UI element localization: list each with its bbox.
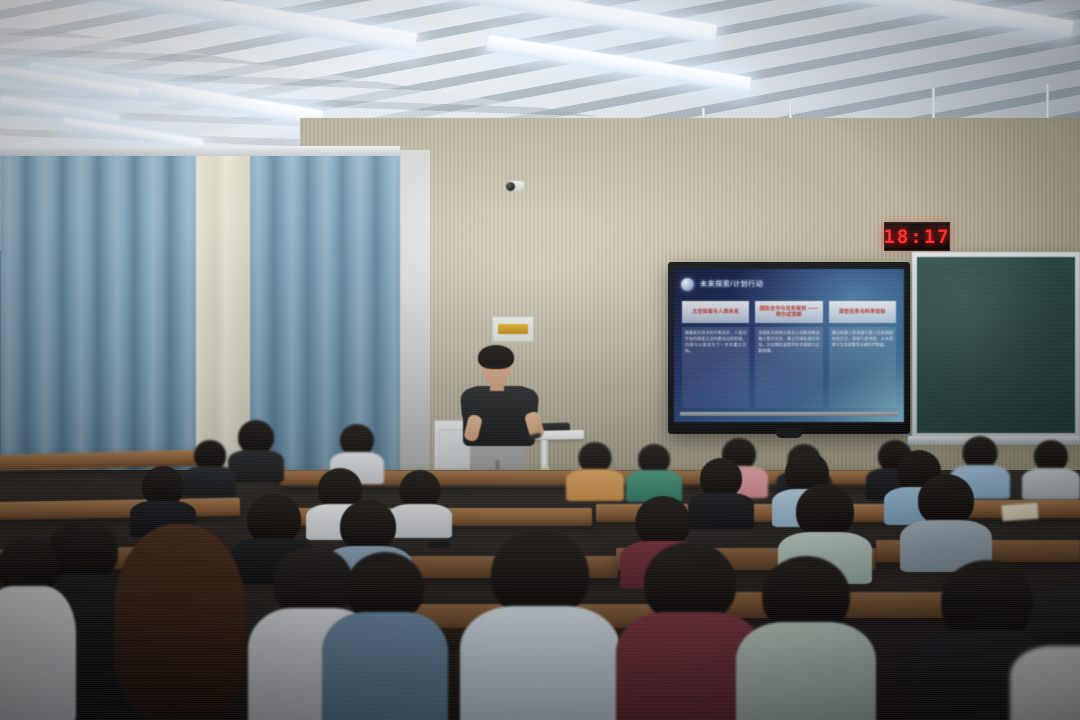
student-body [1010,646,1080,720]
security-camera-icon [506,182,515,191]
student-head [918,474,974,526]
student-near-5 [900,474,992,570]
student-front-left-2 [0,538,76,720]
slide-card-heading: 太空探索与人类未来 [692,309,739,315]
student-front-longhair [112,524,248,720]
student-far-1 [228,420,284,478]
student-body [566,469,624,501]
lecture-hall-photo: 18:17 未来探索/计划行动 太空探索与人类未来 随着航天技术的不断进步，人类… [0,0,1080,720]
digital-wall-clock: 18:17 [884,222,950,251]
chalkboard-surface [917,257,1075,433]
slide-card-body: 通过机器人探测器与载人任务相结合的方式，获取行星地质、水冰资源与生命迹象等关键科… [832,330,893,348]
student-head [491,530,589,618]
slide-card: 国际合作与任务规划 —— 阿尔忒弥斯 多国航天机构与商业公司联合推进载人登月任务… [755,301,822,408]
student-hair-long [114,524,246,716]
display-bezel-strip [680,412,898,416]
slide-card: 深空任务与科学目标 通过机器人探测器与载人任务相结合的方式，获取行星地质、水冰资… [829,301,896,408]
slide-card: 太空探索与人类未来 随着航天技术的不断进步，人类对宇宙的探索正迈向更深远的阶段，… [682,301,749,408]
slide-card-heading-box: 太空探索与人类未来 [682,301,749,323]
slide-card-heading: 国际合作与任务规划 —— 阿尔忒弥斯 [757,306,820,319]
slide-card-body-box: 多国航天机构与商业公司联合推进载人登月任务，建立月球轨道空间站，为长期驻留提供技… [755,327,822,408]
slide-card-body-box: 通过机器人探测器与载人任务相结合的方式，获取行星地质、水冰资源与生命迹象等关键科… [829,327,896,408]
eyeglasses-icon [483,366,509,372]
student-body [1022,468,1080,500]
student-far-4 [626,444,682,498]
control-panel-indicator-icon [498,324,528,334]
slide-card-body: 多国航天机构与商业公司联合推进载人登月任务，建立月球轨道空间站，为长期驻留提供技… [758,330,819,354]
slide-card-heading-box: 深空任务与科学目标 [829,301,896,323]
slide-card-heading: 深空任务与科学目标 [839,309,886,315]
student-head [340,500,396,552]
student-head [796,484,854,538]
student-front-right-2 [736,556,876,720]
slide-card-body: 随着航天技术的不断进步，人类对宇宙的探索正迈向更深远的阶段，月球与火星成为下一步… [685,330,746,354]
interactive-flat-panel-display[interactable]: 未来探索/计划行动 太空探索与人类未来 随着航天技术的不断进步，人类对宇宙的探索… [668,262,910,434]
nasa-logo-icon [681,278,694,291]
display-screen[interactable]: 未来探索/计划行动 太空探索与人类未来 随着航天技术的不断进步，人类对宇宙的探索… [674,269,904,422]
green-chalkboard [912,252,1080,438]
student-front-mid-2 [322,552,448,720]
student-body [322,612,448,720]
student-front-center [460,530,620,720]
student-body [0,586,76,720]
slide-card-group: 太空探索与人类未来 随着航天技术的不断进步，人类对宇宙的探索正迈向更深远的阶段，… [682,301,896,408]
slide-title: 未来探索/计划行动 [700,279,763,289]
student-front-right-4 [1010,586,1080,720]
student-head [142,466,184,506]
student-far-3 [566,442,624,498]
student-mid-1 [130,466,196,532]
student-far-9 [1022,440,1080,498]
student-head [238,420,274,454]
student-head [636,496,691,547]
slide-card-heading-box: 国际合作与任务规划 —— 阿尔忒弥斯 [755,301,822,323]
phone-on-desk [428,540,450,548]
student-body [736,622,876,720]
slide-card-body-box: 随着航天技术的不断进步，人类对宇宙的探索正迈向更深远的阶段，月球与火星成为下一步… [682,327,749,408]
curtain-rail [0,146,400,156]
paper-on-desk [1001,503,1038,521]
clock-time-text: 18:17 [883,226,950,248]
student-head [700,458,742,498]
wall-control-panel[interactable] [492,316,534,342]
student-head [247,494,301,544]
display-mount-nub [776,428,802,438]
student-body [460,606,620,720]
student-body [228,450,284,482]
